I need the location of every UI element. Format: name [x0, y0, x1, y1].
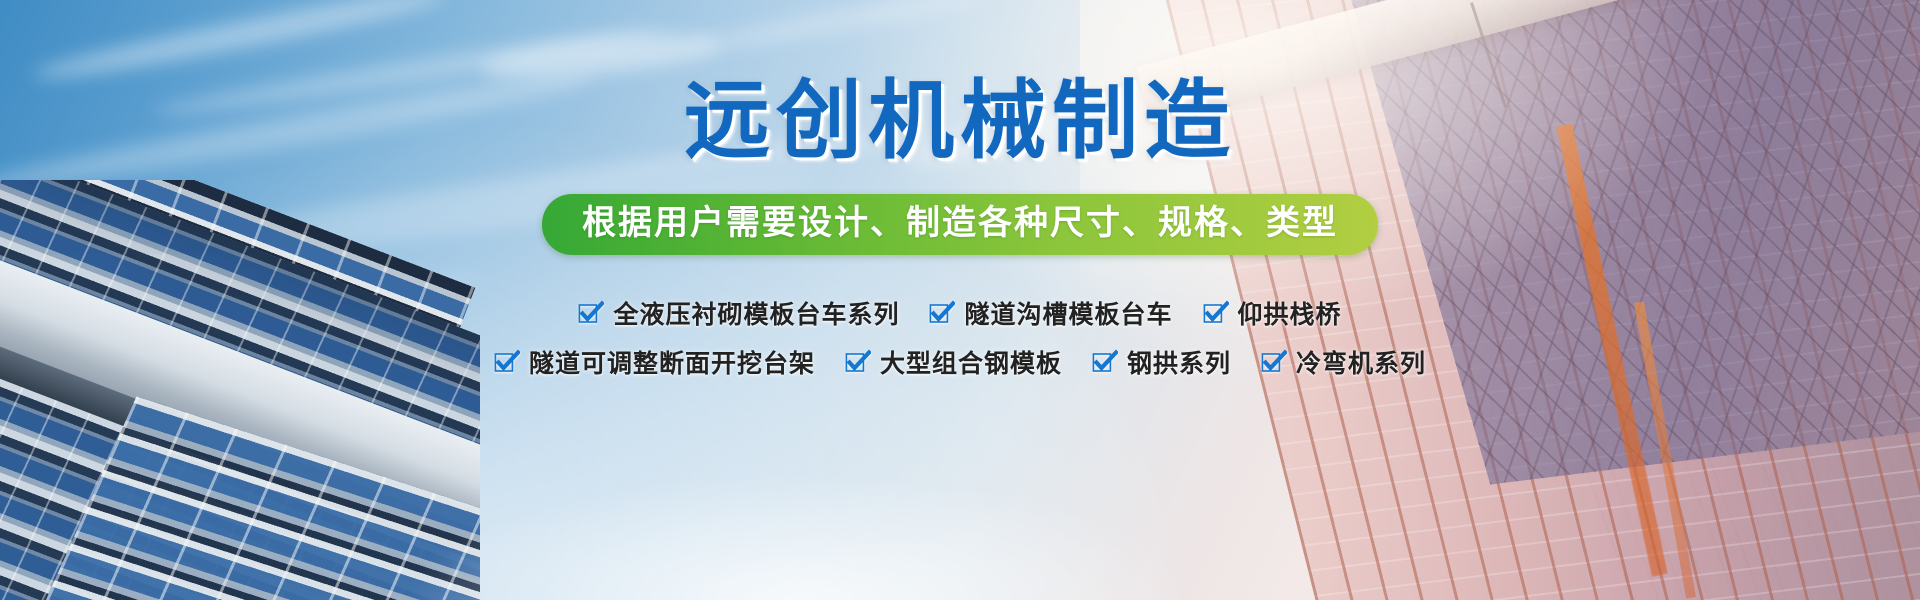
feature-item[interactable]: 仰拱栈桥	[1203, 295, 1342, 331]
feature-label: 钢拱系列	[1127, 344, 1231, 380]
subtitle-pill: 根据用户需要设计、制造各种尺寸、规格、类型	[542, 194, 1378, 255]
feature-label: 大型组合钢模板	[880, 344, 1062, 380]
check-box-icon	[929, 300, 955, 326]
hero-banner: 远创机械制造 根据用户需要设计、制造各种尺寸、规格、类型 全液压衬砌模板台车系列	[0, 0, 1920, 600]
page-title: 远创机械制造	[684, 78, 1236, 164]
feature-label: 隧道沟槽模板台车	[964, 295, 1172, 331]
feature-label: 仰拱栈桥	[1238, 295, 1342, 331]
feature-item[interactable]: 隧道沟槽模板台车	[929, 295, 1172, 331]
feature-item[interactable]: 冷弯机系列	[1261, 344, 1426, 380]
feature-item[interactable]: 隧道可调整断面开挖台架	[494, 344, 815, 380]
check-box-icon	[845, 349, 871, 375]
subtitle-text: 根据用户需要设计、制造各种尺寸、规格、类型	[582, 205, 1338, 242]
check-box-icon	[578, 300, 604, 326]
feature-label: 全液压衬砌模板台车系列	[613, 295, 899, 331]
banner-content: 远创机械制造 根据用户需要设计、制造各种尺寸、规格、类型 全液压衬砌模板台车系列	[0, 0, 1920, 600]
check-box-icon	[1261, 349, 1287, 375]
feature-label: 隧道可调整断面开挖台架	[529, 344, 815, 380]
feature-row: 全液压衬砌模板台车系列 隧道沟槽模板台车 仰拱栈桥	[578, 295, 1341, 331]
feature-label: 冷弯机系列	[1296, 344, 1426, 380]
feature-list: 全液压衬砌模板台车系列 隧道沟槽模板台车 仰拱栈桥	[494, 295, 1426, 380]
check-box-icon	[1203, 300, 1229, 326]
check-box-icon	[494, 349, 520, 375]
feature-item[interactable]: 全液压衬砌模板台车系列	[578, 295, 899, 331]
feature-row: 隧道可调整断面开挖台架 大型组合钢模板 钢拱系列	[494, 344, 1426, 380]
feature-item[interactable]: 大型组合钢模板	[845, 344, 1062, 380]
check-box-icon	[1092, 349, 1118, 375]
feature-item[interactable]: 钢拱系列	[1092, 344, 1231, 380]
